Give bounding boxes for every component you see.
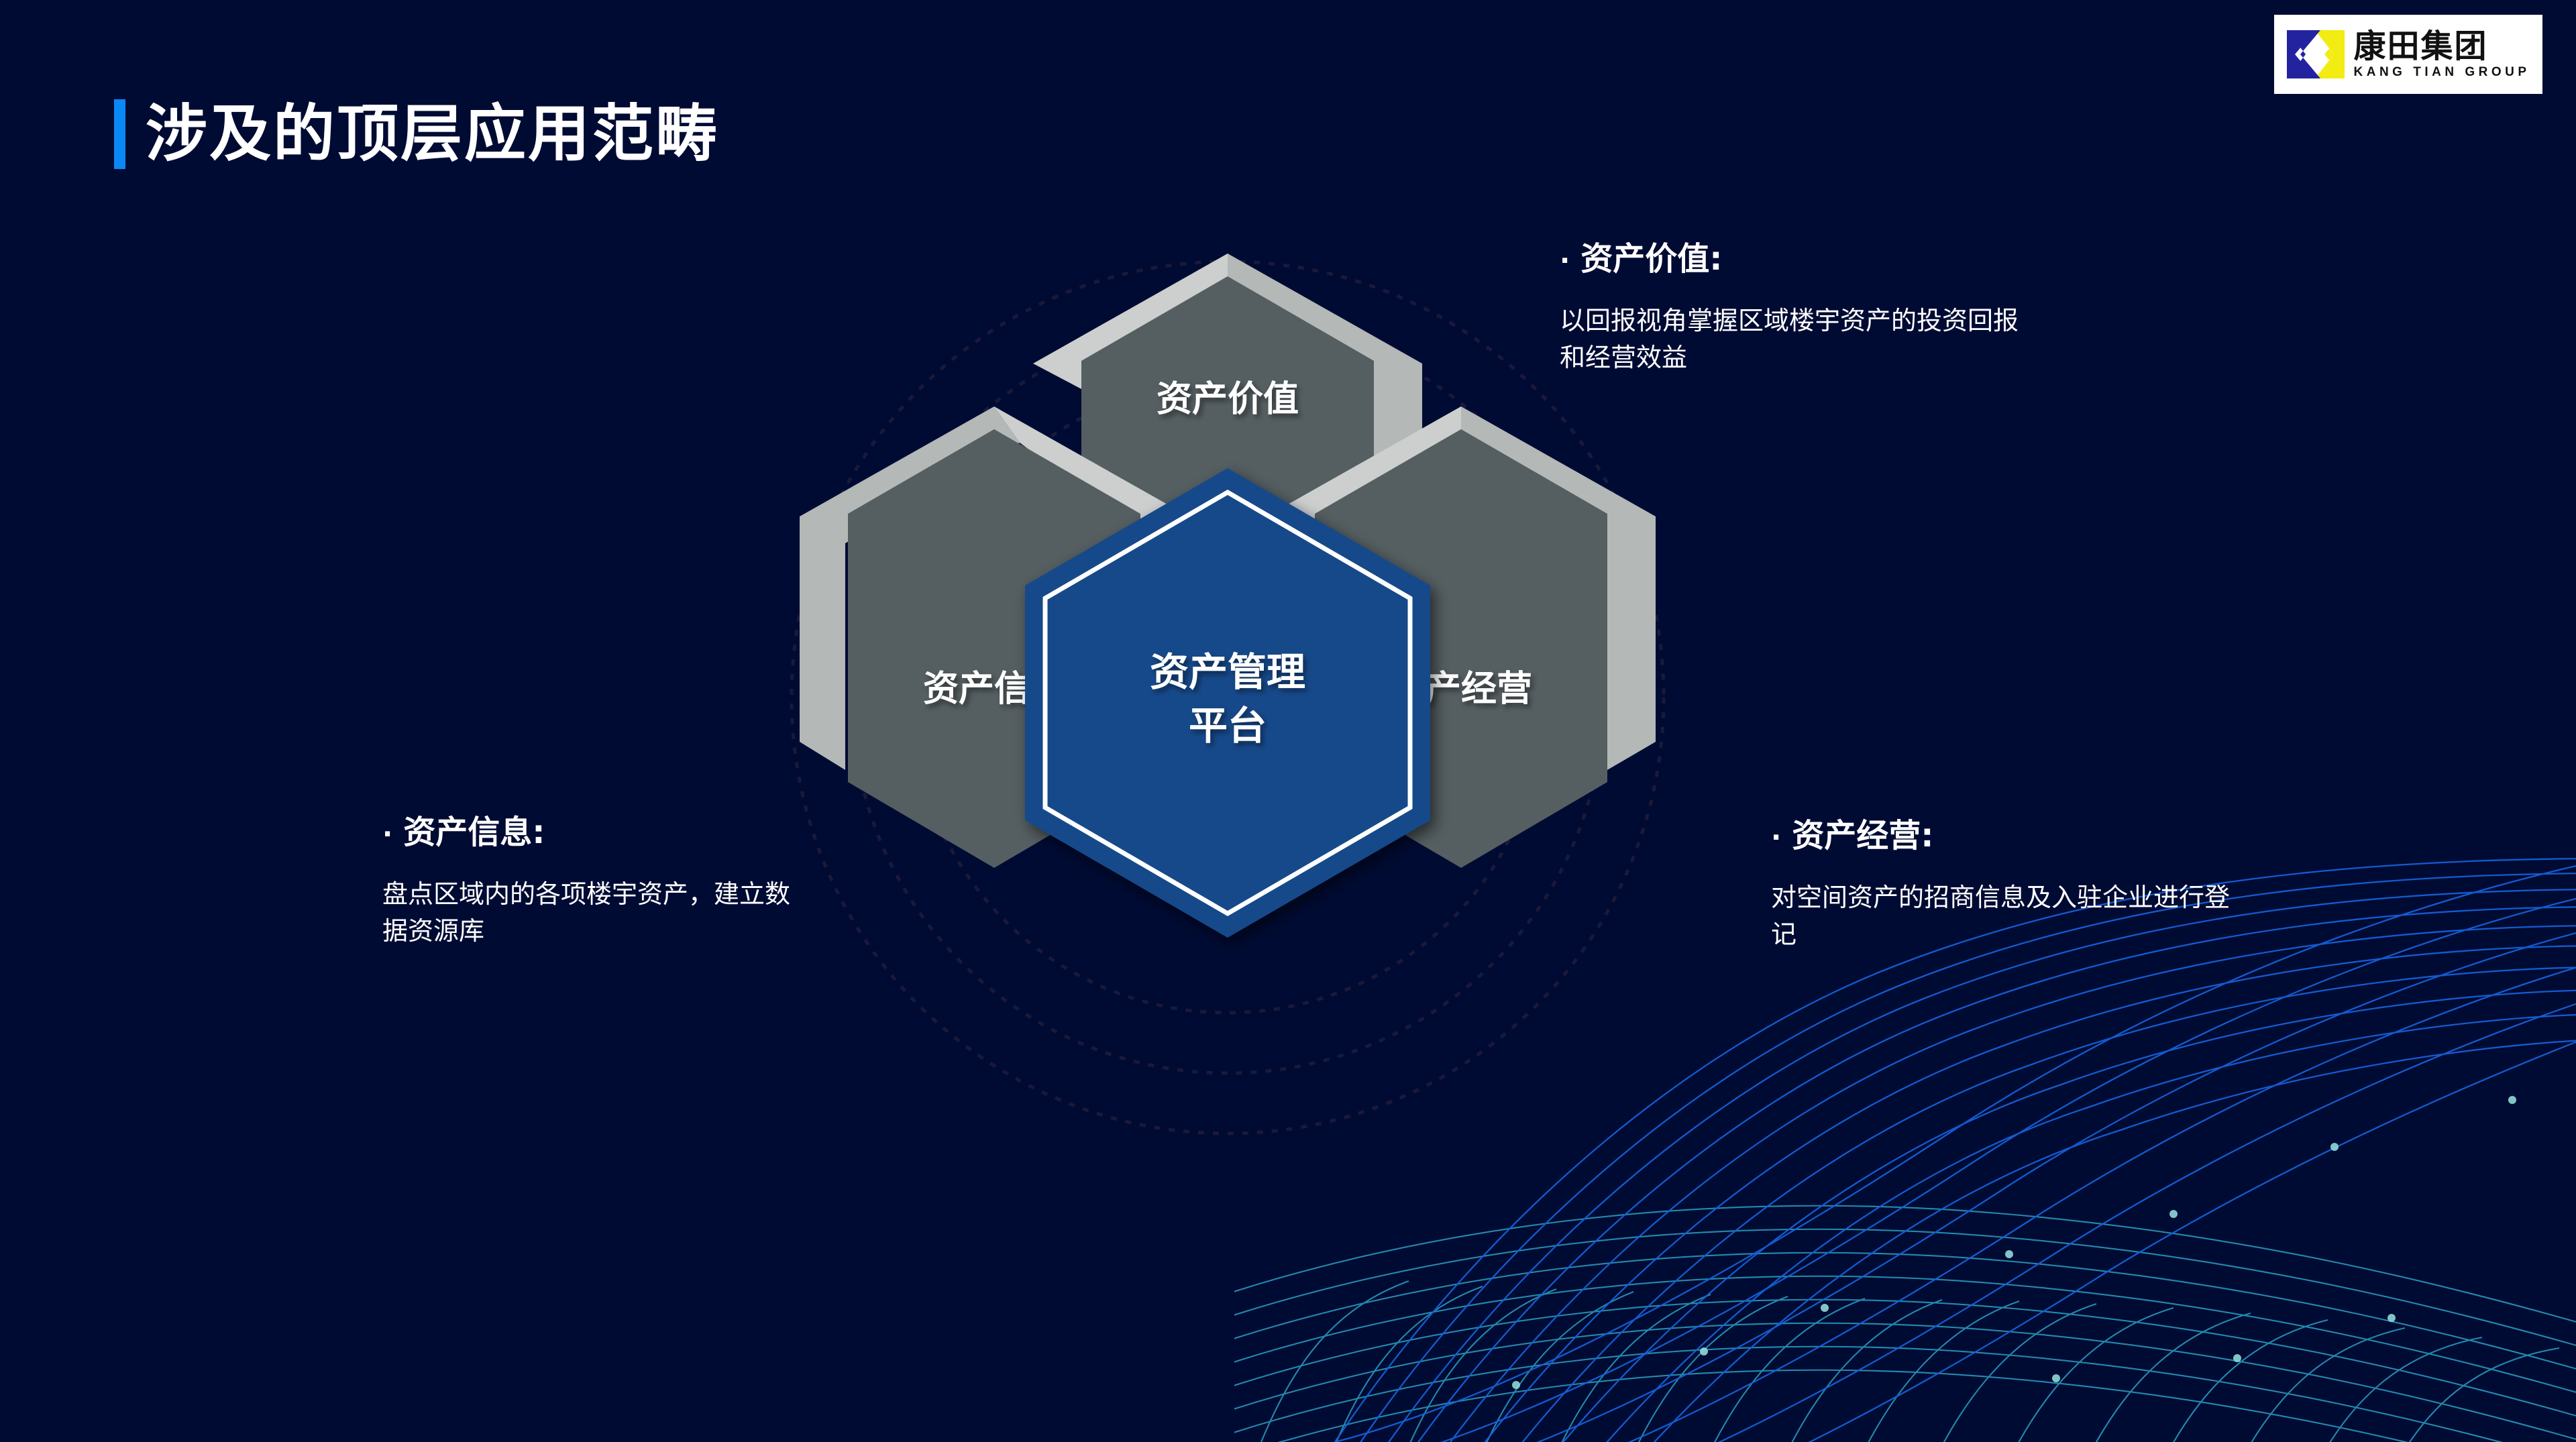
page-title: 涉及的顶层应用范畴 [114,99,719,169]
logo-name-en: KANG TIAN GROUP [2354,66,2530,78]
annotation-asset-info: · 资产信息: 盘点区域内的各项楼宇资产，建立数据资源库 [382,815,798,950]
page-title-text: 涉及的顶层应用范畴 [146,103,719,165]
bullet-dot-icon: · [1771,824,1781,851]
annotation-asset-value: · 资产价值: 以回报视角掌握区域楼宇资产的投资回报和经营效益 [1560,241,2029,376]
annotation-asset-operation-body: 对空间资产的招商信息及入驻企业进行登记 [1771,879,2241,953]
bullet-dot-icon: · [382,821,392,848]
annotation-asset-info-heading: · 资产信息: [382,815,798,850]
bullet-dot-icon: · [1560,247,1570,274]
annotation-asset-info-heading-text: 资产信息: [403,815,545,850]
annotation-asset-value-heading-text: 资产价值: [1580,241,1722,277]
slide-root: 康田集团 KANG TIAN GROUP 涉及的顶层应用范畴 [0,0,2576,1442]
annotation-asset-value-heading: · 资产价值: [1560,241,2029,277]
annotation-asset-operation-heading-text: 资产经营: [1792,818,1933,854]
annotation-asset-operation: · 资产经营: 对空间资产的招商信息及入驻企业进行登记 [1771,818,2241,953]
title-accent-bar [114,99,125,169]
annotation-asset-info-body: 盘点区域内的各项楼宇资产，建立数据资源库 [382,876,798,950]
company-logo: 康田集团 KANG TIAN GROUP [2274,15,2542,94]
annotation-asset-operation-heading: · 资产经营: [1771,818,2241,854]
logo-name-cn: 康田集团 [2354,30,2530,62]
center-hexagon-line1: 资产管理 [1150,649,1305,695]
node-asset-value-label: 资产价值 [1157,379,1299,420]
annotation-asset-value-body: 以回报视角掌握区域楼宇资产的投资回报和经营效益 [1560,302,2029,376]
kang-tian-k-mark-icon [2287,30,2345,78]
center-hexagon-line2: 平台 [1189,703,1267,748]
